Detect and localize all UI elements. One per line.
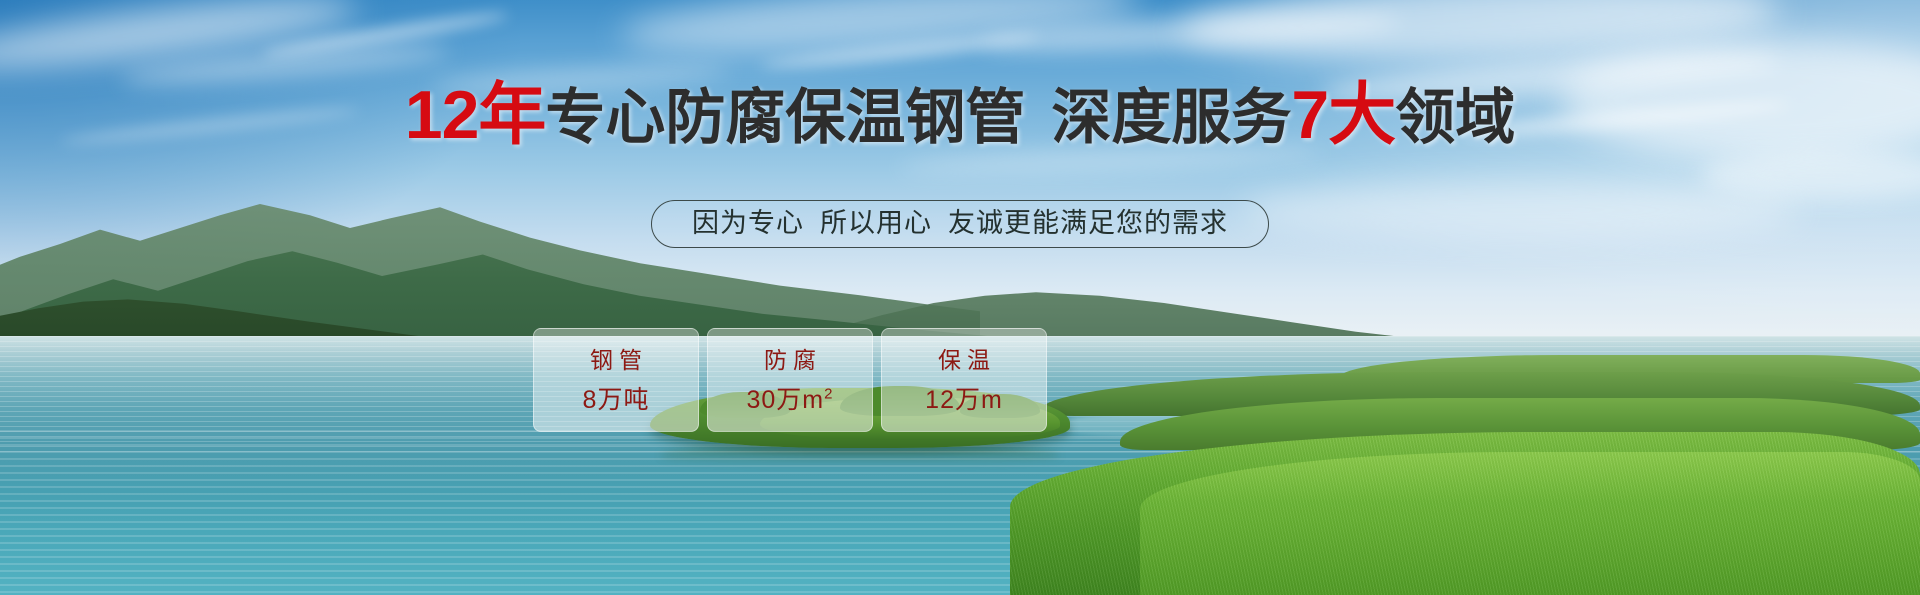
stat-card-insulation: 保温 12万m: [881, 328, 1047, 432]
subtitle-part-1: 因为专心: [692, 208, 804, 238]
stat-card-value-superscript: 2: [824, 385, 833, 402]
headline-tail-text: 领域: [1395, 84, 1515, 151]
stat-card-title: 保温: [932, 347, 996, 373]
stat-card-value-text: 30万m: [747, 386, 825, 414]
stat-card-value-text: 12万m: [925, 386, 1003, 414]
stat-card-title: 防腐: [758, 347, 822, 373]
headline-fields-number: 7: [1291, 77, 1328, 153]
headline-years-unit: 年: [478, 77, 545, 153]
stat-card-value: 8万吨: [583, 386, 650, 414]
stat-card-anticorrosion: 防腐 30万m2: [707, 328, 873, 432]
stat-card-group: 钢管 8万吨 防腐 30万m2 保温 12万m: [533, 328, 1047, 432]
headline-service-text: 深度服务: [1051, 84, 1291, 151]
headline-years-number: 12: [405, 77, 479, 153]
stat-card-title: 钢管: [584, 347, 648, 373]
headline-fields-unit: 大: [1328, 77, 1395, 153]
stat-card-value: 30万m2: [747, 386, 834, 414]
headline-main-text: 专心防腐保温钢管: [545, 84, 1025, 151]
subtitle-pill: 因为专心所以用心友诚更能满足您的需求: [651, 200, 1269, 248]
stat-card-steel-pipe: 钢管 8万吨: [533, 328, 699, 432]
banner-headline: 12年专心防腐保温钢管深度服务7大领域: [0, 82, 1920, 151]
stat-card-value-text: 8万吨: [583, 386, 650, 414]
subtitle-part-3: 友诚更能满足您的需求: [948, 208, 1228, 238]
hero-banner: 12年专心防腐保温钢管深度服务7大领域 因为专心所以用心友诚更能满足您的需求 钢…: [0, 0, 1920, 595]
subtitle-part-2: 所以用心: [820, 208, 932, 238]
subtitle-pill-wrapper: 因为专心所以用心友诚更能满足您的需求: [0, 200, 1920, 248]
stat-card-value: 12万m: [925, 386, 1003, 414]
grass-texture: [1010, 432, 1920, 595]
